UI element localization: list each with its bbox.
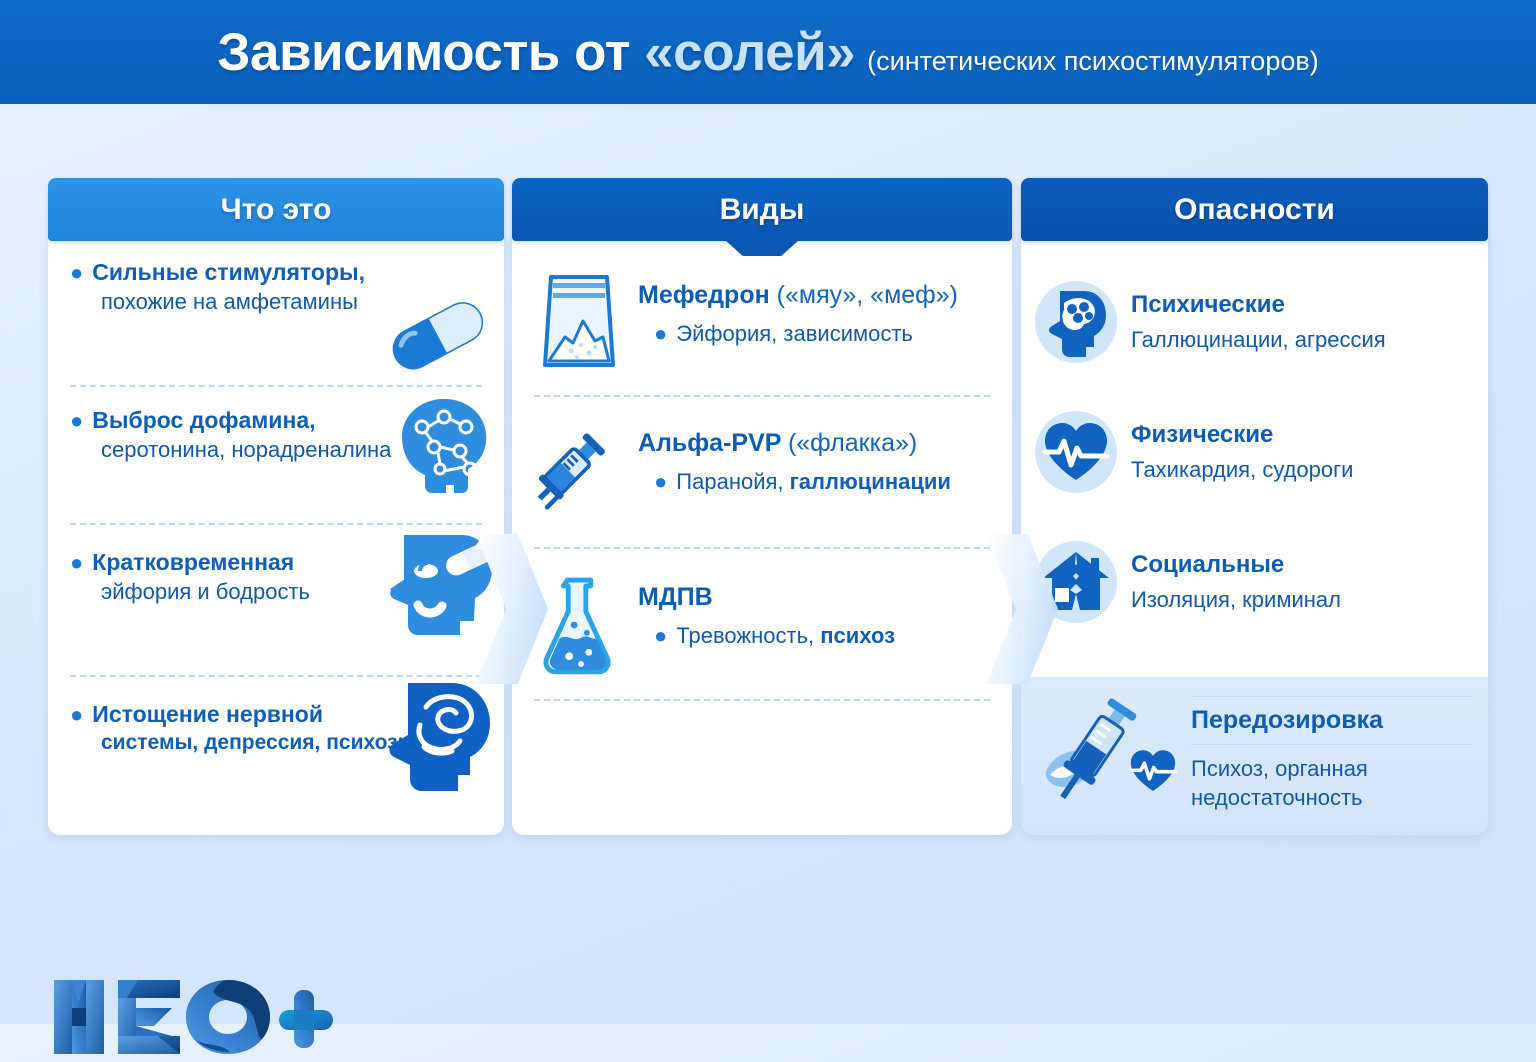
divider	[534, 699, 990, 701]
item-rest: системы, депрессия, психозы	[101, 731, 416, 754]
heart-pulse-icon	[1035, 411, 1117, 493]
danger-desc: Тахикардия, судороги	[1131, 456, 1472, 485]
title-quoted: «солей»	[644, 22, 855, 83]
column-header-what-is-it: Что это	[48, 178, 504, 241]
type-effect-bold: галлюцинации	[790, 469, 951, 494]
column-dangers: Опасности Психические Галлюцинации, агре…	[1021, 178, 1488, 835]
infographic-board: Что это ●Сильные стимуляторы,	[0, 104, 1536, 1024]
danger-desc: Изоляция, криминал	[1131, 586, 1472, 615]
syringe-powder-icon	[1038, 695, 1142, 813]
heart-pulse-small-icon	[1128, 748, 1178, 794]
title-subtitle: (синтетических психостимуляторов)	[867, 46, 1319, 77]
type-name: Альфа-PVP	[638, 429, 781, 457]
column-heading-label: Опасности	[1174, 193, 1335, 227]
list-item: Мефедрон («мяу», «меф») ●Эйфория, зависи…	[512, 257, 1012, 395]
bullet-icon: ●	[654, 623, 667, 648]
column-header-dangers: Опасности	[1021, 178, 1488, 241]
danger-title: Психические	[1131, 290, 1472, 320]
list-item: Альфа-PVP («флакка») ●Паранойя, галлюцин…	[512, 397, 1012, 547]
overdose-desc: Психоз, органная недостаточность	[1191, 754, 1472, 812]
neo-plus-logo[interactable]	[48, 972, 348, 1062]
type-name: Мефедрон	[638, 281, 770, 309]
list-item: z ●Кратковременная эйфория и бодрость	[48, 525, 504, 675]
column-body-dangers: Психические Галлюцинации, агрессия Физич…	[1021, 237, 1488, 677]
item-lead: Выброс дофамина,	[92, 407, 315, 433]
page-title: Зависимость от «солей» (синтетических пс…	[217, 22, 1318, 83]
bullet-icon: ●	[70, 702, 83, 727]
type-effect: Паранойя,	[676, 469, 789, 494]
item-rest: эйфория и бодрость	[101, 579, 310, 604]
overdose-title: Передозировка	[1191, 706, 1472, 735]
flask-icon	[538, 573, 620, 677]
divider	[1191, 744, 1472, 745]
type-name: МДПВ	[638, 583, 713, 611]
danger-title: Физические	[1131, 420, 1472, 450]
divider	[1191, 696, 1472, 697]
bullet-icon: ●	[70, 550, 83, 575]
list-item: МДПВ ●Тревожность, психоз	[512, 549, 1012, 699]
type-alias: («мяу», «меф»)	[777, 281, 958, 309]
type-effect: Эйфория, зависимость	[676, 321, 913, 346]
item-lead: Истощение нервной	[92, 701, 323, 727]
list-item: ●Истощение нервной системы, депрессия, п…	[48, 677, 504, 827]
list-item: Социальные Изоляция, криминал	[1021, 517, 1488, 647]
list-item: Психические Галлюцинации, агрессия	[1021, 257, 1488, 387]
item-rest: похожие на амфетамины	[101, 289, 358, 314]
powder-bag-icon	[538, 271, 620, 371]
danger-title: Социальные	[1131, 550, 1472, 580]
page-header: Зависимость от «солей» (синтетических пс…	[0, 0, 1536, 104]
type-effect-bold: психоз	[820, 623, 895, 648]
column-types: Виды Мефедрон («мяу	[512, 178, 1012, 835]
list-item: ●Выброс дофамина, серотонина, норадренал…	[48, 387, 504, 523]
syringe-icon	[538, 419, 620, 519]
column-heading-label: Что это	[221, 193, 332, 227]
column-body-types: Мефедрон («мяу», «меф») ●Эйфория, зависи…	[512, 237, 1012, 835]
bullet-icon: ●	[654, 469, 667, 494]
column-body-what-is-it: ●Сильные стимуляторы, похожие на амфетам…	[48, 237, 504, 835]
list-item: ●Сильные стимуляторы, похожие на амфетам…	[48, 257, 504, 385]
type-alias: («флакка»)	[788, 429, 917, 457]
bullet-icon: ●	[654, 321, 667, 346]
overdose-panel: Передозировка Психоз, органная недостато…	[1021, 677, 1488, 835]
list-item: Физические Тахикардия, судороги	[1021, 387, 1488, 517]
bullet-icon: ●	[70, 408, 83, 433]
title-main: Зависимость от	[217, 22, 630, 83]
type-effect: Тревожность,	[676, 623, 820, 648]
head-brain-icon	[1035, 281, 1117, 363]
item-rest: серотонина, норадреналина	[101, 437, 391, 462]
bullet-icon: ●	[70, 260, 83, 285]
column-header-types: Виды	[512, 178, 1012, 241]
danger-desc: Галлюцинации, агрессия	[1131, 326, 1472, 355]
item-lead: Кратковременная	[92, 549, 294, 575]
column-heading-label: Виды	[720, 193, 805, 227]
column-what-is-it: Что это ●Сильные стимуляторы,	[48, 178, 504, 835]
item-lead: Сильные стимуляторы,	[92, 259, 365, 285]
